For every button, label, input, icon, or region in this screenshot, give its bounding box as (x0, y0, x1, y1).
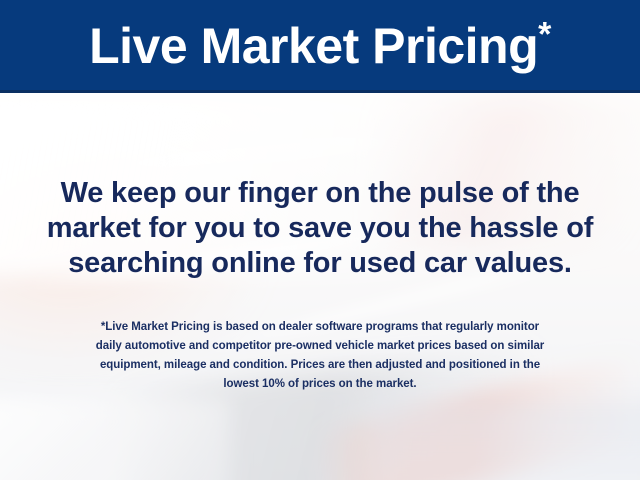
banner-title: Live Market Pricing* (89, 21, 551, 73)
disclaimer-line: daily automotive and competitor pre-owne… (28, 337, 612, 356)
banner-title-asterisk: * (538, 15, 551, 53)
headline-line: market for you to save you the hassle of (0, 211, 640, 246)
disclaimer-line: lowest 10% of prices on the market. (28, 375, 612, 394)
disclaimer: *Live Market Pricing is based on dealer … (28, 318, 612, 394)
live-market-pricing-promo: Live Market Pricing* We keep our finger … (0, 0, 640, 480)
disclaimer-line: equipment, mileage and condition. Prices… (28, 356, 612, 375)
headline-line: We keep our finger on the pulse of the (0, 176, 640, 211)
headline: We keep our finger on the pulse of the m… (0, 176, 640, 281)
disclaimer-line: *Live Market Pricing is based on dealer … (28, 318, 612, 337)
header-banner: Live Market Pricing* (0, 0, 640, 93)
headline-line: searching online for used car values. (0, 246, 640, 281)
banner-title-text: Live Market Pricing (89, 18, 538, 74)
